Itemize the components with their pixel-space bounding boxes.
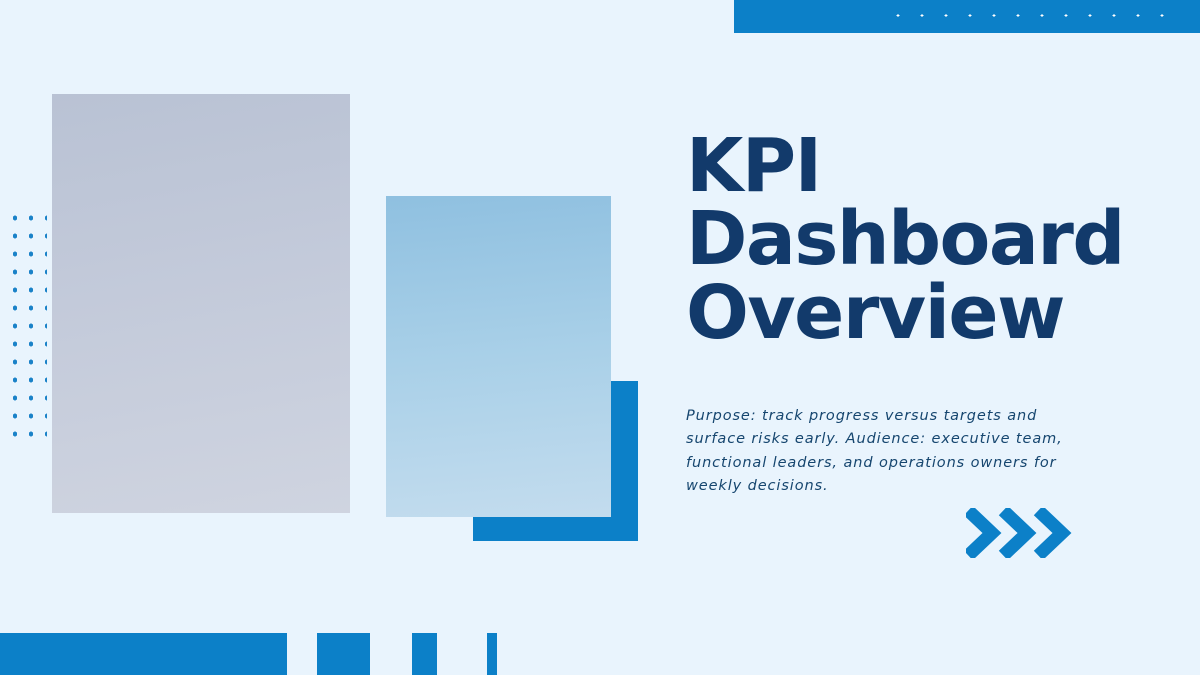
top-banner (734, 0, 1200, 33)
bottom-bar-wide (0, 633, 287, 675)
top-banner-dots-icon (886, 9, 1174, 26)
secondary-photo (386, 196, 611, 517)
sky-background (52, 94, 350, 513)
body-block: Purpose: track progress versus targets a… (686, 405, 1076, 499)
sky-background-secondary (386, 196, 611, 517)
bottom-bar-small (412, 633, 437, 675)
primary-photo (52, 94, 350, 513)
triple-chevron-right-icon (966, 508, 1074, 558)
bottom-bar-medium (317, 633, 370, 675)
page-title: KPI Dashboard Overview (686, 130, 1186, 350)
slide-description: Purpose: track progress versus targets a… (686, 405, 1076, 499)
bottom-bar-thin (487, 633, 497, 675)
title-block: KPI Dashboard Overview (686, 130, 1186, 350)
left-dot-grid-icon (7, 209, 47, 437)
